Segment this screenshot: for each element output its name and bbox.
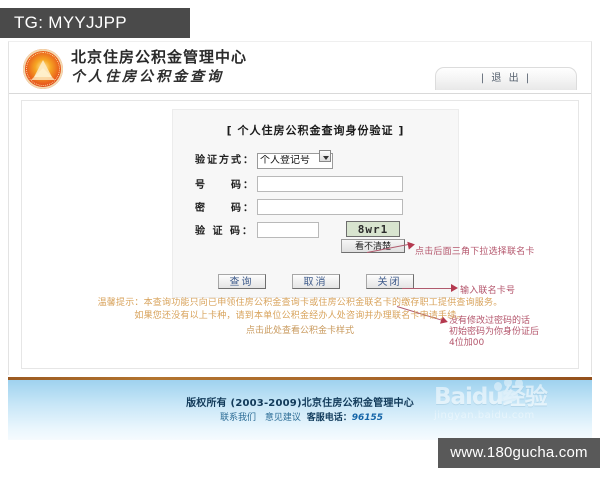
housing-fund-emblem-icon [23, 49, 63, 89]
watermark-sub-text: jingyan.baidu.com [434, 410, 584, 422]
annotation-cardnumber-text: 输入联名卡号 [460, 283, 515, 296]
site-title-block: 北京住房公积金管理中心 个人住房公积金查询 [71, 47, 247, 87]
form-title: [ 个人住房公积金查询身份验证 ] [173, 116, 458, 148]
notice-block: 温馨提示：本查询功能只向已申领住房公积金查询卡或住房公积金联名卡的缴存职工提供查… [40, 297, 560, 339]
notice-line-2: 如果您还没有以上卡种，请到本单位公积金经办人处咨询并办理联名卡申请手续。 [40, 310, 560, 323]
page-container: 北京住房公积金管理中心 个人住房公积金查询 | 退 出 | [ 个人住房公积金查… [8, 41, 592, 375]
site-header: 北京住房公积金管理中心 个人住房公积金查询 | 退 出 | [9, 42, 591, 94]
annotation-arrow-head-cardnumber [451, 284, 458, 292]
emblem-base-icon [31, 68, 55, 80]
verify-method-select[interactable]: 个人登记号 [257, 153, 333, 169]
form-row-account-number: 号 码： [173, 176, 458, 192]
logout-label: | 退 出 | [436, 68, 576, 90]
baidu-jingyan-watermark: Baidu经验 jingyan.baidu.com [434, 384, 584, 434]
service-name: 个人住房公积金查询 [71, 67, 247, 87]
identity-verification-form: [ 个人住房公积金查询身份验证 ] 验证方式： 个人登记号 号 码： [172, 109, 459, 298]
contact-us-link[interactable]: 联系我们 [220, 413, 256, 423]
annotation-dropdown-text: 点击后面三角下拉选择联名卡 [415, 244, 535, 257]
hotline-number: 96155 [352, 413, 383, 423]
query-button[interactable]: 查询 [218, 274, 266, 289]
verify-method-select-wrap: 个人登记号 [257, 148, 333, 169]
content-frame: [ 个人住房公积金查询身份验证 ] 验证方式： 个人登记号 号 码： [21, 100, 579, 369]
account-number-input[interactable] [257, 176, 403, 192]
label-account-number: 号 码： [195, 176, 257, 191]
form-row-password: 密 码： [173, 199, 458, 215]
annotation-arrow-line-cardnumber [402, 288, 454, 289]
feedback-link[interactable]: 意见建议 [265, 413, 301, 423]
page-body: [ 个人住房公积金查询身份验证 ] 验证方式： 个人登记号 号 码： [9, 94, 591, 375]
label-password: 密 码： [195, 199, 257, 214]
form-row-captcha: 验 证 码： 8wr1 看不清楚 [173, 222, 458, 238]
captcha-input[interactable] [257, 222, 319, 238]
annotation-password-line3: 4位加00 [449, 338, 569, 349]
notice-line-1: 温馨提示：本查询功能只向已申领住房公积金查询卡或住房公积金联名卡的缴存职工提供查… [40, 297, 560, 310]
card-sample-link[interactable]: 点击此处查看公积金卡样式 [40, 323, 560, 339]
hotline-label: 客服电话： [307, 413, 352, 423]
logout-button[interactable]: | 退 出 | [435, 67, 577, 90]
cancel-button[interactable]: 取消 [292, 274, 340, 289]
organization-name: 北京住房公积金管理中心 [71, 47, 247, 67]
tg-watermark-tag: TG: MYYJJPP [0, 8, 190, 38]
password-input[interactable] [257, 199, 403, 215]
baidu-paw-icon [492, 380, 532, 400]
source-url-bar: www.180gucha.com [438, 438, 600, 468]
form-row-verify-method: 验证方式： 个人登记号 [173, 148, 458, 169]
bottom-white-strip [0, 468, 600, 480]
close-button[interactable]: 关闭 [366, 274, 414, 289]
captcha-image: 8wr1 [346, 221, 400, 237]
label-verify-method: 验证方式： [195, 151, 257, 166]
form-button-row: 查询 取消 关闭 [173, 274, 458, 289]
site-footer: 版权所有 (2003-2009)北京住房公积金管理中心 联系我们 意见建议 客服… [8, 380, 592, 440]
label-captcha: 验 证 码： [195, 222, 257, 237]
